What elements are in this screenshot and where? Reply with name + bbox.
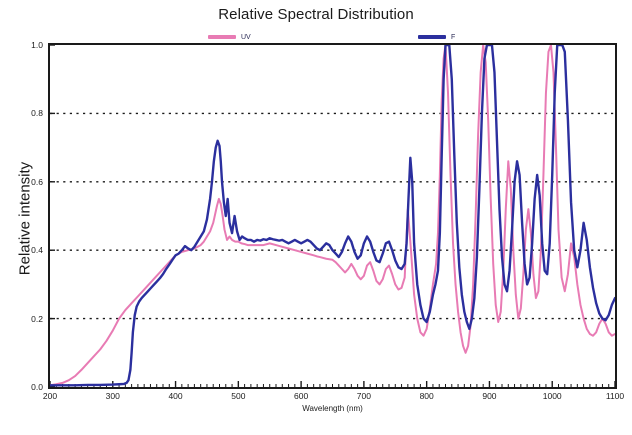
legend-item-uv: UV bbox=[208, 30, 251, 44]
x-tick-label: 800 bbox=[407, 391, 447, 401]
x-tick-label: 1100 bbox=[595, 391, 632, 401]
x-tick-label: 200 bbox=[30, 391, 70, 401]
x-tick-label: 1000 bbox=[532, 391, 572, 401]
legend-swatch-f bbox=[418, 35, 446, 39]
x-tick-label: 900 bbox=[469, 391, 509, 401]
x-tick-label: 400 bbox=[156, 391, 196, 401]
legend-item-f: F bbox=[418, 30, 455, 44]
chart-title: Relative Spectral Distribution bbox=[0, 6, 632, 23]
x-tick-label: 600 bbox=[281, 391, 321, 401]
chart-legend: UV F bbox=[0, 30, 632, 46]
x-axis-label: Wavelength (nm) bbox=[48, 404, 617, 413]
legend-swatch-uv bbox=[208, 35, 236, 39]
spectral-distribution-figure: Relative Spectral Distribution Relative … bbox=[0, 0, 632, 435]
y-tick-label: 0.4 bbox=[3, 245, 43, 255]
plot-svg bbox=[50, 45, 615, 387]
y-tick-label: 0.8 bbox=[3, 108, 43, 118]
series-line-f bbox=[50, 45, 615, 385]
plot-area bbox=[48, 43, 617, 389]
y-tick-label: 0.6 bbox=[3, 177, 43, 187]
y-tick-label: 0.2 bbox=[3, 314, 43, 324]
x-tick-label: 300 bbox=[93, 391, 133, 401]
y-axis-label: Relative intensity bbox=[17, 124, 34, 314]
legend-label-uv: UV bbox=[241, 34, 251, 41]
legend-label-f: F bbox=[451, 34, 455, 41]
series-line-uv bbox=[50, 45, 615, 385]
x-tick-label: 700 bbox=[344, 391, 384, 401]
x-tick-label: 500 bbox=[218, 391, 258, 401]
